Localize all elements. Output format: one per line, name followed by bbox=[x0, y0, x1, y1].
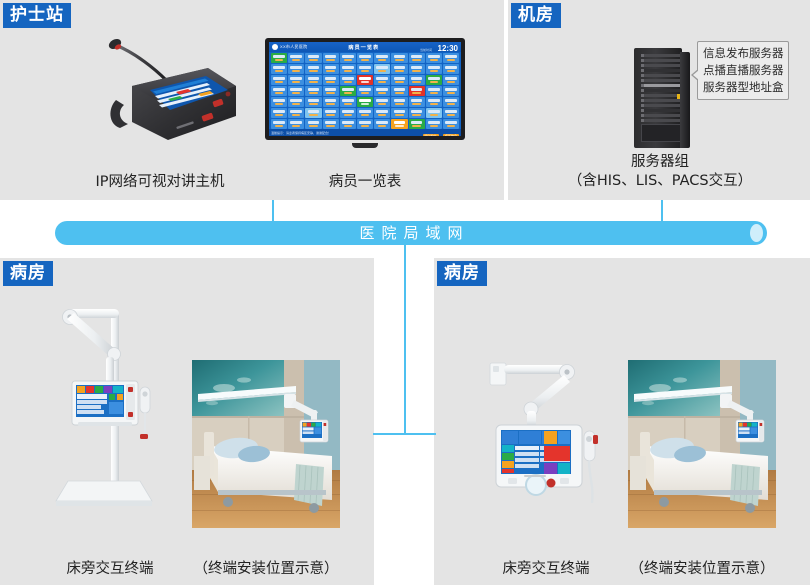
patient-bed-cell[interactable] bbox=[305, 97, 321, 107]
rack-slot bbox=[641, 114, 681, 117]
tv-footer: 温馨提示：请患者保持病区安静，谢谢配合！ 呼叫护士 病区信息 bbox=[269, 129, 461, 136]
rack-slot bbox=[641, 99, 681, 102]
patient-bed-cell[interactable] bbox=[443, 75, 459, 85]
patient-bed-row bbox=[271, 53, 459, 63]
patient-bed-cell[interactable] bbox=[391, 53, 407, 63]
patient-bed-cell[interactable] bbox=[409, 108, 425, 118]
hospital-room-photo-left bbox=[192, 360, 340, 528]
tv-footer-note: 温馨提示：请患者保持病区安静，谢谢配合！ bbox=[271, 131, 331, 135]
server-callout-balloon: 信息发布服务器 点播直播服务器 服务器型地址盒 bbox=[697, 41, 789, 100]
patient-bed-cell[interactable] bbox=[391, 64, 407, 74]
patient-bed-cell[interactable] bbox=[426, 86, 442, 96]
patient-bed-cell[interactable] bbox=[426, 75, 442, 85]
callout-line-1: 信息发布服务器 bbox=[703, 45, 783, 62]
patient-bed-cell[interactable] bbox=[426, 97, 442, 107]
ip-intercom-host-photo bbox=[58, 28, 258, 153]
connector-nurse-station bbox=[272, 200, 274, 222]
patient-bed-cell[interactable] bbox=[323, 97, 339, 107]
patient-list-tv-photo: XX市人民医院 病员一览表 当前时间 12:30 温馨提示：请患者保持病区安静，… bbox=[265, 38, 465, 148]
patient-bed-cell[interactable] bbox=[443, 97, 459, 107]
patient-bed-cell[interactable] bbox=[374, 64, 390, 74]
patient-bed-cell[interactable] bbox=[288, 53, 304, 63]
patient-bed-cell[interactable] bbox=[374, 75, 390, 85]
patient-bed-cell[interactable] bbox=[288, 108, 304, 118]
patient-bed-cell[interactable] bbox=[271, 108, 287, 118]
patient-bed-cell[interactable] bbox=[409, 53, 425, 63]
rack-side-panel bbox=[680, 52, 690, 148]
badge-server-room: 机房 bbox=[511, 3, 561, 28]
patient-bed-row bbox=[271, 108, 459, 118]
patient-bed-cell[interactable] bbox=[323, 64, 339, 74]
rack-drive-bay bbox=[641, 124, 681, 142]
rack-slot bbox=[641, 104, 681, 107]
badge-ward-left: 病房 bbox=[3, 261, 53, 286]
rack-slot bbox=[641, 94, 681, 97]
patient-bed-cell[interactable] bbox=[271, 53, 287, 63]
badge-nurse-station: 护士站 bbox=[3, 3, 71, 28]
rack-slot bbox=[641, 69, 681, 72]
rack-slot bbox=[641, 59, 681, 62]
callout-line-3: 服务器型地址盒 bbox=[703, 79, 783, 96]
patient-bed-row bbox=[271, 75, 459, 85]
caption-patient-list: 病员一览表 bbox=[265, 173, 465, 192]
patient-bed-cell[interactable] bbox=[340, 53, 356, 63]
patient-bed-cell[interactable] bbox=[357, 53, 373, 63]
rack-slot bbox=[641, 89, 681, 92]
patient-bed-cell[interactable] bbox=[374, 119, 390, 129]
patient-bed-cell[interactable] bbox=[409, 75, 425, 85]
rack-slot bbox=[641, 119, 681, 122]
patient-bed-cell[interactable] bbox=[374, 97, 390, 107]
lan-bus-end-cap bbox=[750, 224, 763, 242]
caption-ip-intercom: IP网络可视对讲主机 bbox=[40, 173, 280, 192]
patient-bed-cell[interactable] bbox=[374, 108, 390, 118]
patient-bed-cell[interactable] bbox=[357, 86, 373, 96]
tv-stand bbox=[352, 143, 378, 148]
rack-slot-stack bbox=[641, 54, 681, 129]
patient-bed-cell[interactable] bbox=[340, 119, 356, 129]
topology-diagram: 护士站 机房 病房 病房 bbox=[0, 0, 810, 585]
patient-bed-cell[interactable] bbox=[426, 53, 442, 63]
callout-line-2: 点播直播服务器 bbox=[703, 62, 783, 79]
patient-bed-cell[interactable] bbox=[374, 53, 390, 63]
badge-ward-right: 病房 bbox=[437, 261, 487, 286]
patient-bed-cell[interactable] bbox=[391, 86, 407, 96]
patient-bed-cell[interactable] bbox=[288, 97, 304, 107]
patient-bed-cell[interactable] bbox=[391, 119, 407, 129]
rack-slot bbox=[641, 84, 681, 87]
connector-wards-horizontal bbox=[373, 433, 436, 435]
patient-bed-cell[interactable] bbox=[288, 86, 304, 96]
rack-body bbox=[634, 48, 682, 148]
patient-bed-cell[interactable] bbox=[340, 97, 356, 107]
patient-bed-cell[interactable] bbox=[340, 75, 356, 85]
patient-bed-cell[interactable] bbox=[340, 86, 356, 96]
patient-bed-cell[interactable] bbox=[391, 97, 407, 107]
patient-bed-cell[interactable] bbox=[409, 97, 425, 107]
patient-bed-cell[interactable] bbox=[305, 64, 321, 74]
patient-bed-cell[interactable] bbox=[305, 108, 321, 118]
patient-bed-cell[interactable] bbox=[426, 64, 442, 74]
patient-bed-cell[interactable] bbox=[323, 75, 339, 85]
patient-bed-cell[interactable] bbox=[357, 108, 373, 118]
patient-bed-cell[interactable] bbox=[443, 64, 459, 74]
patient-bed-cell[interactable] bbox=[323, 108, 339, 118]
rack-slot bbox=[641, 74, 681, 77]
patient-bed-cell[interactable] bbox=[323, 119, 339, 129]
patient-bed-cell[interactable] bbox=[374, 86, 390, 96]
patient-bed-cell[interactable] bbox=[357, 119, 373, 129]
patient-bed-cell[interactable] bbox=[391, 108, 407, 118]
tv-clock-label: 当前时间 bbox=[420, 48, 432, 52]
caption-server-group: 服务器组 （含HIS、LIS、PACS交互） bbox=[520, 153, 800, 191]
patient-bed-cell[interactable] bbox=[426, 108, 442, 118]
patient-bed-row bbox=[271, 86, 459, 96]
tv-header: XX市人民医院 病员一览表 当前时间 12:30 bbox=[269, 42, 461, 52]
tv-screen: XX市人民医院 病员一览表 当前时间 12:30 温馨提示：请患者保持病区安静，… bbox=[269, 42, 461, 136]
patient-bed-cell[interactable] bbox=[391, 75, 407, 85]
connector-server-room bbox=[661, 200, 663, 222]
patient-bed-row bbox=[271, 64, 459, 74]
tv-hospital-name: XX市人民医院 bbox=[280, 44, 307, 50]
patient-bed-cell[interactable] bbox=[305, 53, 321, 63]
caption-ward-right-terminal: 床旁交互终端 bbox=[466, 560, 626, 579]
patient-bed-cell[interactable] bbox=[271, 86, 287, 96]
tv-clock: 12:30 bbox=[438, 44, 458, 53]
patient-bed-cell[interactable] bbox=[357, 64, 373, 74]
patient-bed-cell[interactable] bbox=[271, 97, 287, 107]
patient-bed-cell[interactable] bbox=[443, 86, 459, 96]
tv-footer-button-call-nurse[interactable]: 呼叫护士 bbox=[423, 134, 439, 137]
rack-slot bbox=[641, 79, 681, 82]
patient-bed-cell[interactable] bbox=[271, 119, 287, 129]
tv-footer-button-ward-info[interactable]: 病区信息 bbox=[443, 134, 459, 137]
patient-bed-cell[interactable] bbox=[271, 75, 287, 85]
server-rack-photo bbox=[630, 48, 692, 148]
patient-bed-cell[interactable] bbox=[305, 75, 321, 85]
patient-bed-cell[interactable] bbox=[288, 119, 304, 129]
rack-slot bbox=[641, 64, 681, 67]
patient-bed-cell[interactable] bbox=[288, 75, 304, 85]
patient-bed-cell[interactable] bbox=[443, 53, 459, 63]
rack-slot bbox=[641, 109, 681, 112]
connector-wards-vertical bbox=[404, 245, 406, 435]
patient-bed-cell[interactable] bbox=[323, 53, 339, 63]
hospital-lan-label: 医院局域网 bbox=[55, 221, 767, 245]
rack-slot bbox=[641, 54, 681, 57]
hospital-room-photo-right bbox=[628, 360, 776, 528]
patient-bed-cell[interactable] bbox=[409, 86, 425, 96]
hospital-lan-bus: 医院局域网 bbox=[55, 221, 767, 245]
patient-bed-cell[interactable] bbox=[443, 108, 459, 118]
caption-ward-left-terminal: 床旁交互终端 bbox=[30, 560, 190, 579]
caption-ward-left-install: （终端安装位置示意） bbox=[186, 560, 346, 579]
patient-bed-cell[interactable] bbox=[340, 64, 356, 74]
patient-bed-cell[interactable] bbox=[288, 64, 304, 74]
floor-stand-bedside-terminal-photo bbox=[48, 295, 173, 525]
patient-bed-row bbox=[271, 97, 459, 107]
patient-bed-cell[interactable] bbox=[409, 64, 425, 74]
patient-bed-cell[interactable] bbox=[305, 86, 321, 96]
patient-bed-cell[interactable] bbox=[305, 119, 321, 129]
patient-bed-cell[interactable] bbox=[357, 75, 373, 85]
tv-title: 病员一览表 bbox=[348, 44, 379, 51]
arm-mounted-bedside-terminal-photo bbox=[488, 355, 603, 515]
tv-bezel: XX市人民医院 病员一览表 当前时间 12:30 温馨提示：请患者保持病区安静，… bbox=[265, 38, 465, 140]
patient-bed-cell[interactable] bbox=[271, 64, 287, 74]
patient-bed-cell[interactable] bbox=[340, 108, 356, 118]
caption-ward-right-install: （终端安装位置示意） bbox=[622, 560, 782, 579]
patient-bed-cell[interactable] bbox=[323, 86, 339, 96]
hospital-logo-icon bbox=[272, 44, 278, 50]
patient-bed-cell[interactable] bbox=[357, 97, 373, 107]
